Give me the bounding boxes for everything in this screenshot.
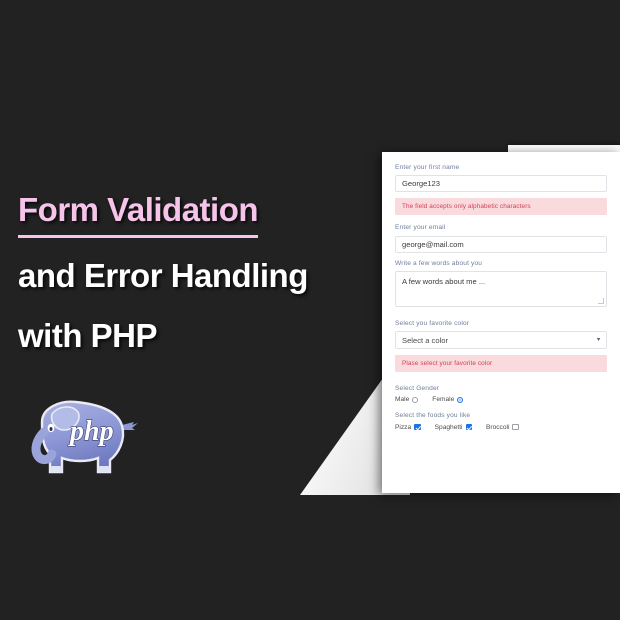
- checkbox-icon-pizza[interactable]: [414, 424, 421, 431]
- label-email: Enter your email: [395, 224, 607, 231]
- error-first-name: The field accepts only alphabetic charac…: [395, 198, 607, 215]
- radio-label-female: Female: [432, 396, 454, 403]
- select-favorite-color-value: Select a color: [402, 336, 448, 345]
- label-about: Write a few words about you: [395, 260, 607, 267]
- label-first-name: Enter your first name: [395, 164, 607, 171]
- input-first-name[interactable]: George123: [395, 175, 607, 192]
- checkbox-label-pizza: Pizza: [395, 424, 411, 431]
- textarea-about[interactable]: A few words about me ...: [395, 271, 607, 307]
- radio-option-female[interactable]: Female: [432, 396, 463, 403]
- radio-label-male: Male: [395, 396, 409, 403]
- headline-block: Form Validation and Error Handling with …: [18, 186, 418, 360]
- foods-options: Pizza Spaghetti Broccoli: [395, 424, 607, 431]
- field-email: Enter your email george@mail.com: [395, 224, 607, 252]
- php-form-card: Enter your first name George123 The fiel…: [382, 152, 620, 493]
- checkbox-label-spaghetti: Spaghetti: [435, 424, 463, 431]
- field-favorite-color: Select you favorite color Select a color…: [395, 320, 607, 372]
- error-favorite-color: Plase select your favorite color: [395, 355, 607, 372]
- checkbox-option-spaghetti[interactable]: Spaghetti: [435, 424, 472, 431]
- title-line-2: and Error Handling: [18, 252, 418, 300]
- svg-text:php: php: [68, 416, 114, 447]
- slide-canvas: Form Validation and Error Handling with …: [0, 0, 620, 620]
- checkbox-label-broccoli: Broccoli: [486, 424, 509, 431]
- gender-options: Male Female: [395, 396, 607, 403]
- checkbox-option-pizza[interactable]: Pizza: [395, 424, 421, 431]
- field-about: Write a few words about you A few words …: [395, 260, 607, 307]
- php-elephant-logo: php: [14, 392, 144, 484]
- field-foods: Select the foods you like Pizza Spaghett…: [395, 412, 607, 430]
- checkbox-icon-broccoli[interactable]: [512, 424, 519, 431]
- label-gender: Select Gender: [395, 385, 607, 392]
- select-favorite-color[interactable]: Select a color ▾: [395, 331, 607, 349]
- checkbox-option-broccoli[interactable]: Broccoli: [486, 424, 519, 431]
- title-line-1: Form Validation: [18, 186, 258, 238]
- radio-option-male[interactable]: Male: [395, 396, 418, 403]
- radio-icon-male[interactable]: [412, 397, 418, 403]
- field-first-name: Enter your first name George123 The fiel…: [395, 164, 607, 215]
- field-gender: Select Gender Male Female: [395, 385, 607, 403]
- title-line-3: with PHP: [18, 312, 418, 360]
- label-favorite-color: Select you favorite color: [395, 320, 607, 327]
- chevron-down-icon: ▾: [597, 337, 601, 343]
- radio-icon-female[interactable]: [457, 397, 463, 403]
- checkbox-icon-spaghetti[interactable]: [466, 424, 473, 431]
- input-email[interactable]: george@mail.com: [395, 236, 607, 253]
- label-foods: Select the foods you like: [395, 412, 607, 419]
